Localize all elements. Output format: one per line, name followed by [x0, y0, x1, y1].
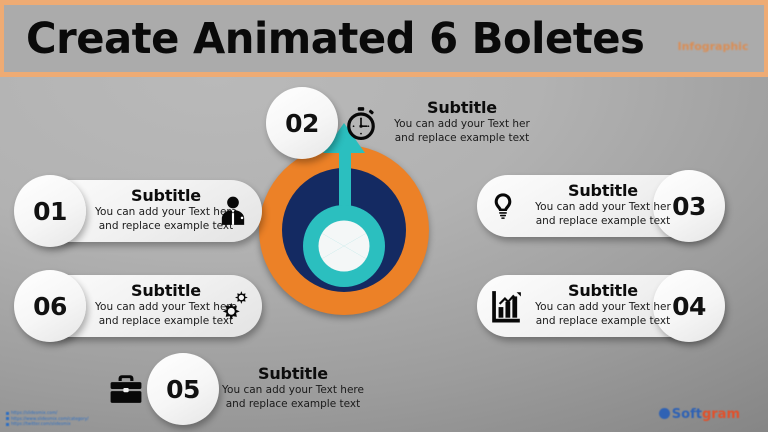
footer-link-label[interactable]: https://twitter.com/slidesmix	[11, 421, 71, 427]
footer-logo: Softgram	[659, 407, 740, 422]
info-card-06[interactable]: 06 Subtitle You can add your Text here a…	[22, 275, 262, 337]
briefcase-icon	[109, 372, 143, 406]
logo-mark-icon	[659, 408, 670, 419]
footer-link-item[interactable]: https://twitter.com/slidesmix	[6, 421, 88, 427]
info-card-01[interactable]: 01 Subtitle You can add your Text here a…	[22, 180, 262, 242]
card-number-badge: 01	[14, 175, 86, 247]
card-subtitle: Subtitle	[386, 99, 538, 117]
card-subtitle: Subtitle	[527, 182, 679, 200]
camera-aperture-icon	[315, 217, 373, 275]
info-card-04[interactable]: 04 Subtitle You can add your Text her an…	[477, 275, 717, 337]
card-body-line-2: and replace example text	[217, 398, 369, 411]
link-bullet-icon	[6, 417, 9, 420]
card-body-line-2: and replace example text	[527, 215, 679, 228]
card-body-line-2: and replace example text	[527, 315, 679, 328]
stopwatch-icon	[344, 106, 378, 140]
card-number-badge: 02	[266, 87, 338, 159]
logo-primary-text: Soft	[672, 407, 702, 422]
card-subtitle: Subtitle	[527, 282, 679, 300]
card-text-block: Subtitle You can add your Text her and r…	[527, 282, 679, 328]
link-bullet-icon	[6, 423, 9, 426]
infographic-stage: 01 Subtitle You can add your Text here a…	[0, 77, 768, 432]
gears-icon	[218, 289, 252, 323]
title-bar: Create Animated 6 Boletes Infographic	[0, 0, 768, 77]
businessman-icon	[216, 194, 250, 228]
footer-links[interactable]: https://slidesmix.com/ https://www.slide…	[6, 410, 88, 427]
lightbulb-icon	[489, 189, 517, 223]
card-body-line-2: and replace example text	[386, 132, 538, 145]
card-number-badge: 06	[14, 270, 86, 342]
card-body-line-1: You can add your Text her	[527, 301, 679, 314]
card-body-line-1: You can add your Text her	[527, 201, 679, 214]
brandmark-label: Infographic	[677, 40, 748, 53]
link-bullet-icon	[6, 412, 9, 415]
info-card-03[interactable]: 03 Subtitle You can add your Text her an…	[477, 175, 717, 237]
center-graphic	[259, 145, 429, 315]
page-title: Create Animated 6 Boletes	[26, 14, 644, 64]
bar-chart-icon	[489, 289, 523, 323]
logo-secondary-text: gram	[702, 407, 740, 422]
card-body-line-1: You can add your Text here	[217, 384, 369, 397]
card-text-block: Subtitle You can add your Text her and r…	[386, 99, 538, 145]
card-subtitle: Subtitle	[217, 365, 369, 383]
card-number-badge: 05	[147, 353, 219, 425]
card-text-block: Subtitle You can add your Text here and …	[217, 365, 369, 411]
card-body-line-1: You can add your Text her	[386, 118, 538, 131]
card-text-block: Subtitle You can add your Text her and r…	[527, 182, 679, 228]
